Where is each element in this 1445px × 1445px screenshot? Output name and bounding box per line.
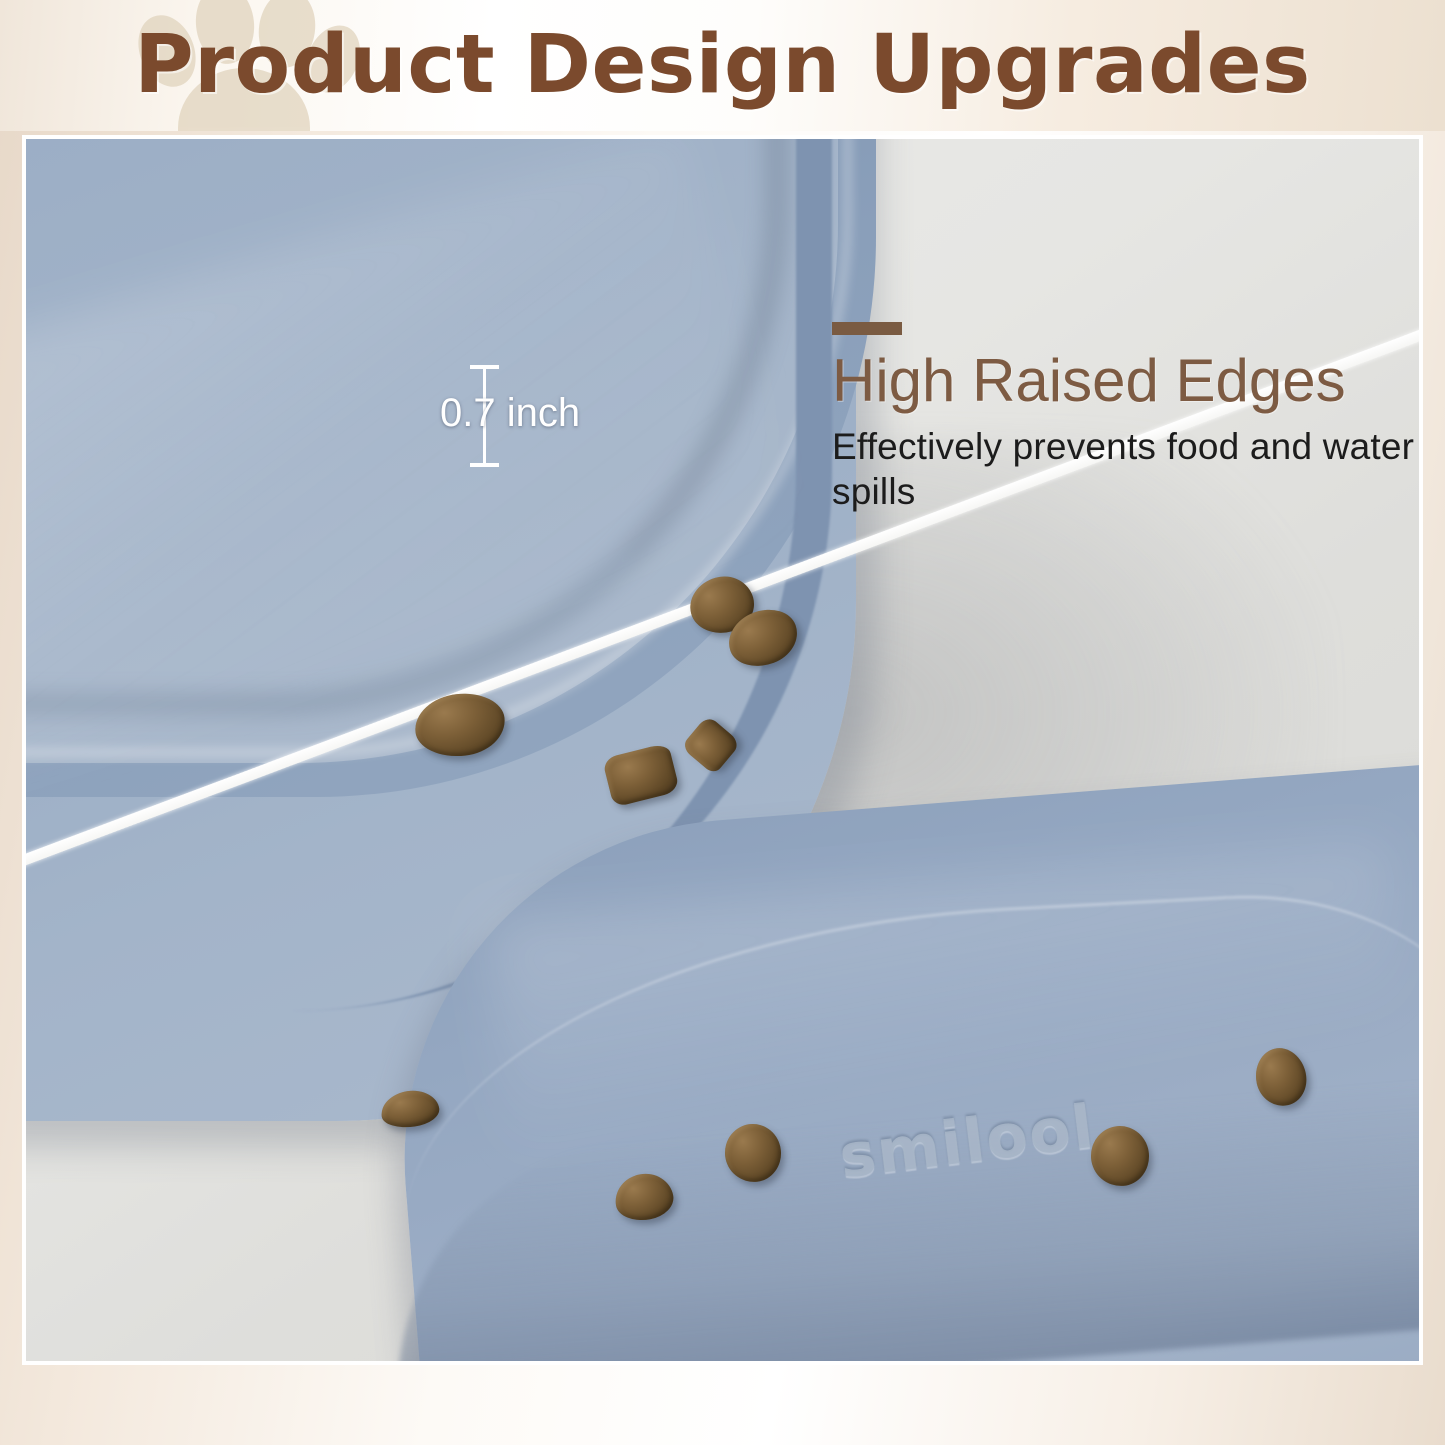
product-infographic: Product Design Upgrades smilool <box>0 0 1445 1445</box>
callout-heading: High Raised Edges <box>832 349 1419 412</box>
page-title: Product Design Upgrades <box>0 0 1445 131</box>
dimension-cap-top <box>470 365 499 369</box>
header-banner: Product Design Upgrades <box>0 0 1445 131</box>
dimension-cap-bottom <box>470 463 499 467</box>
callout-high-raised-edges: High Raised Edges Effectively prevents f… <box>832 322 1419 514</box>
dimension-label: 0.7 inch <box>440 391 580 436</box>
dimension-callout: 0.7 inch <box>444 361 594 471</box>
photo-frame: smilool 0.7 inch High Raised Edges Effec… <box>22 135 1423 1365</box>
accent-dash <box>832 322 902 335</box>
product-photo: smilool 0.7 inch High Raised Edges Effec… <box>26 139 1419 1361</box>
callout-subtext: Effectively prevents food and water spil… <box>832 424 1419 514</box>
